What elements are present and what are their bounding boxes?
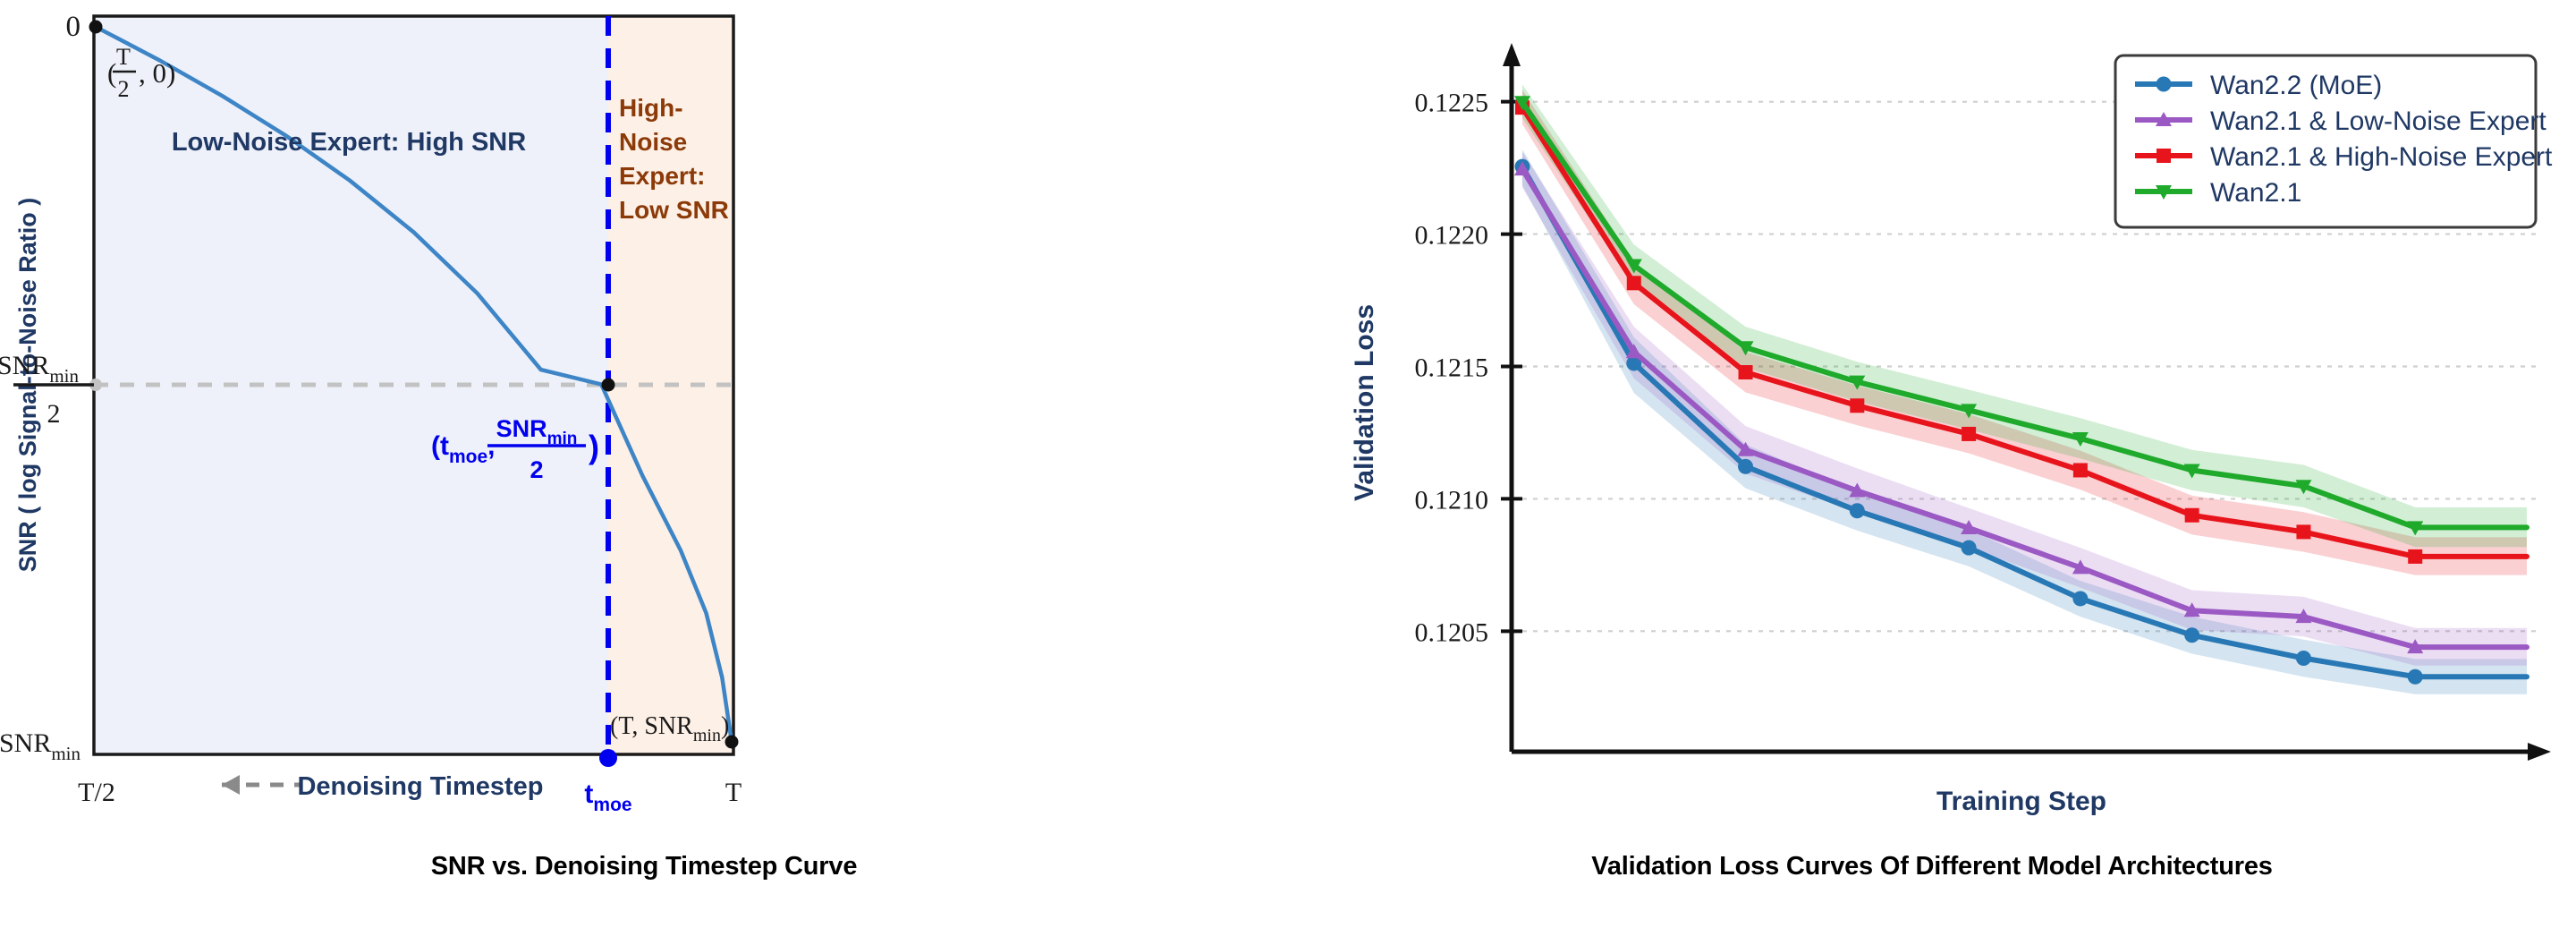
direction-arrow-head xyxy=(222,775,240,795)
annotation-start-rest: , 0) xyxy=(139,57,175,89)
data-point-marker xyxy=(2296,524,2310,539)
t-moe-axis-dot xyxy=(599,749,617,767)
data-point-marker xyxy=(2184,627,2199,643)
data-point-marker xyxy=(2072,591,2088,606)
data-point-marker xyxy=(2073,463,2088,477)
snr-x-axis-label: Denoising Timestep xyxy=(297,772,543,801)
point-moe-marker xyxy=(602,379,615,392)
data-point-marker xyxy=(1739,365,1753,379)
x-tick-t-half: T/2 xyxy=(78,778,115,807)
y-tick-label: 0.1210 xyxy=(1415,485,1489,515)
y-tick-snrmin-half-denominator: 2 xyxy=(47,399,61,429)
data-point-marker xyxy=(2157,77,2172,92)
low-noise-region xyxy=(94,16,608,754)
region-label-low-noise: Low-Noise Expert: High SNR xyxy=(172,128,526,157)
x-tick-t-moe: tmoe xyxy=(584,779,631,815)
y-axis-arrowhead xyxy=(1503,43,1521,66)
y-tick-label: 0.1205 xyxy=(1415,617,1489,647)
data-point-marker xyxy=(1627,276,1641,290)
annotation-moe-denominator: 2 xyxy=(530,456,543,483)
y-tick-label: 0.1220 xyxy=(1415,221,1489,251)
data-point-marker xyxy=(2185,508,2199,523)
snr-chart-caption: SNR vs. Denoising Timestep Curve xyxy=(0,852,1288,881)
y-tick-label: 0.1215 xyxy=(1415,353,1489,383)
snr-chart-svg: SNR ( log Signal-to-Noise Ratio ) 0 SNRm… xyxy=(0,0,1288,850)
validation-loss-panel: 0.12250.12200.12150.12100.1205 Validatio… xyxy=(1288,0,2576,928)
data-point-marker xyxy=(1850,503,1865,518)
y-tick-zero: 0 xyxy=(66,11,81,43)
region-label-high-noise-line-1: High- xyxy=(619,94,683,122)
y-tick-snrmin: SNRmin xyxy=(0,728,80,764)
legend-label: Wan2.2 (MoE) xyxy=(2210,71,2382,100)
data-point-marker xyxy=(1850,398,1864,413)
x-tick-t: T xyxy=(725,778,741,807)
x-axis-arrowhead xyxy=(2528,743,2551,761)
annotation-moe-close: ) xyxy=(589,429,599,465)
data-point-marker xyxy=(2408,669,2423,685)
validation-chart-caption: Validation Loss Curves Of Different Mode… xyxy=(1288,852,2576,881)
data-point-marker xyxy=(1962,541,1977,556)
region-label-high-noise-line-4: Low SNR xyxy=(619,196,729,224)
validation-legend[interactable]: Wan2.2 (MoE)Wan2.1 & Low-Noise ExpertWan… xyxy=(2115,55,2553,227)
y-tick-label: 0.1225 xyxy=(1415,89,1489,118)
annotation-start-numerator: T xyxy=(116,44,131,70)
region-label-high-noise-line-3: Expert: xyxy=(619,162,705,190)
annotation-start-paren-open: ( xyxy=(107,57,116,89)
legend-label: Wan2.1 xyxy=(2210,178,2301,208)
legend-label: Wan2.1 & Low-Noise Expert xyxy=(2210,106,2546,136)
two-panel-figure: SNR ( log Signal-to-Noise Ratio ) 0 SNRm… xyxy=(0,0,2576,928)
data-point-marker xyxy=(1738,459,1753,474)
data-point-marker xyxy=(2296,651,2311,666)
annotation-start-denominator: 2 xyxy=(118,76,130,102)
point-start-marker xyxy=(89,21,103,34)
region-label-high-noise-line-2: Noise xyxy=(619,128,687,156)
data-point-marker xyxy=(2157,149,2171,163)
data-point-marker xyxy=(2408,549,2422,564)
validation-x-axis-label: Training Step xyxy=(1936,787,2106,816)
legend-label: Wan2.1 & High-Noise Expert xyxy=(2210,142,2553,172)
data-point-marker xyxy=(1962,427,1976,441)
validation-loss-svg: 0.12250.12200.12150.12100.1205 Validatio… xyxy=(1288,0,2576,850)
validation-y-axis-label: Validation Loss xyxy=(1350,304,1379,501)
snr-chart-panel: SNR ( log Signal-to-Noise Ratio ) 0 SNRm… xyxy=(0,0,1288,928)
denoising-direction-arrow xyxy=(222,775,300,795)
